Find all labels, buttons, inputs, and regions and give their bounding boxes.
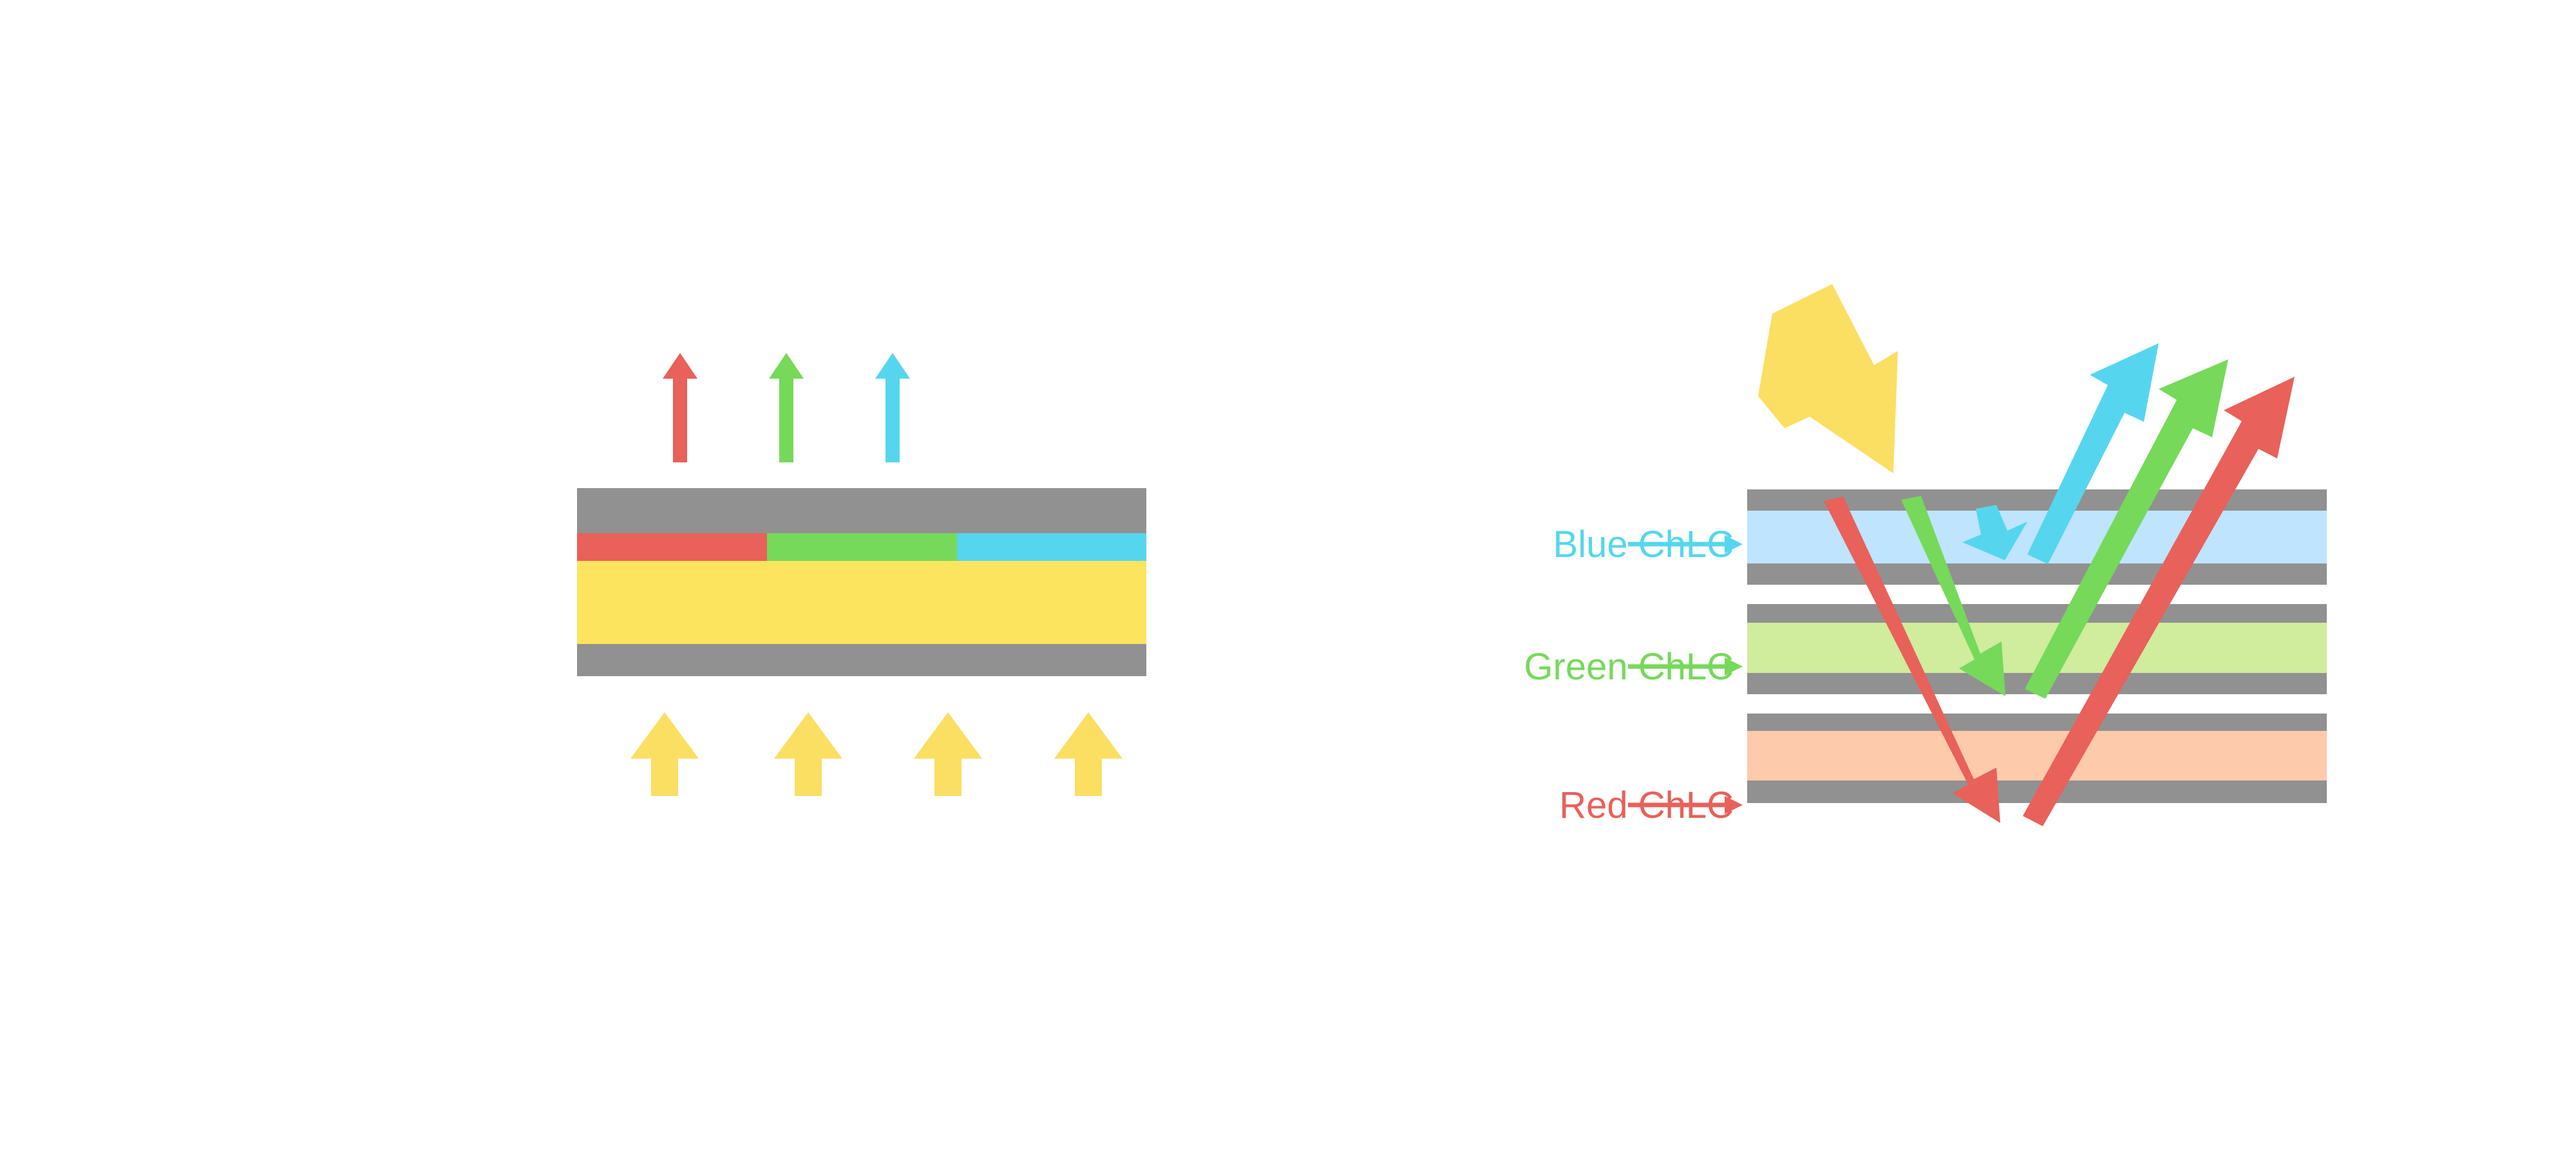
backlight-arrows-group — [630, 712, 1122, 796]
green-chlc-top-electrode — [1747, 604, 2327, 623]
top-gray-substrate — [577, 488, 1146, 533]
right-panel-group: Blue ChLC Green ChLC Red ChLC — [1524, 284, 2327, 826]
emitted-green-arrow — [769, 353, 804, 462]
yellow-backlight-layer — [577, 561, 1146, 644]
diagram-canvas: Blue ChLC Green ChLC Red ChLC — [0, 0, 2576, 1154]
label-blue-chlc-group: Blue ChLC — [1553, 524, 1743, 565]
chlc-labels-group: Blue ChLC Green ChLC Red ChLC — [1524, 524, 1743, 826]
green-filter-segment — [767, 533, 957, 561]
cyan-filter-segment — [957, 533, 1146, 561]
backlight-arrow-2 — [774, 712, 842, 796]
green-chlc-layer — [1747, 623, 2327, 673]
blue-chlc-bottom-electrode — [1747, 563, 2327, 585]
emitted-arrows-group — [663, 353, 910, 462]
left-panel-group — [577, 353, 1146, 796]
emitted-cyan-arrow — [875, 353, 910, 462]
red-chlc-top-electrode — [1747, 714, 2327, 731]
diagram-svg: Blue ChLC Green ChLC Red ChLC — [0, 0, 2576, 1154]
bottom-gray-substrate — [577, 644, 1146, 676]
left-stack-group — [577, 488, 1146, 676]
red-filter-segment — [577, 533, 767, 561]
incident-white-light-arrow — [1758, 284, 1898, 473]
backlight-arrow-3 — [914, 712, 982, 796]
emitted-red-arrow — [663, 353, 697, 462]
label-red-chlc-group: Red ChLC — [1559, 784, 1743, 826]
label-green-chlc-group: Green ChLC — [1524, 646, 1743, 688]
backlight-arrow-4 — [1054, 712, 1122, 796]
red-chlc-layer — [1747, 731, 2327, 780]
backlight-arrow-1 — [630, 712, 699, 796]
